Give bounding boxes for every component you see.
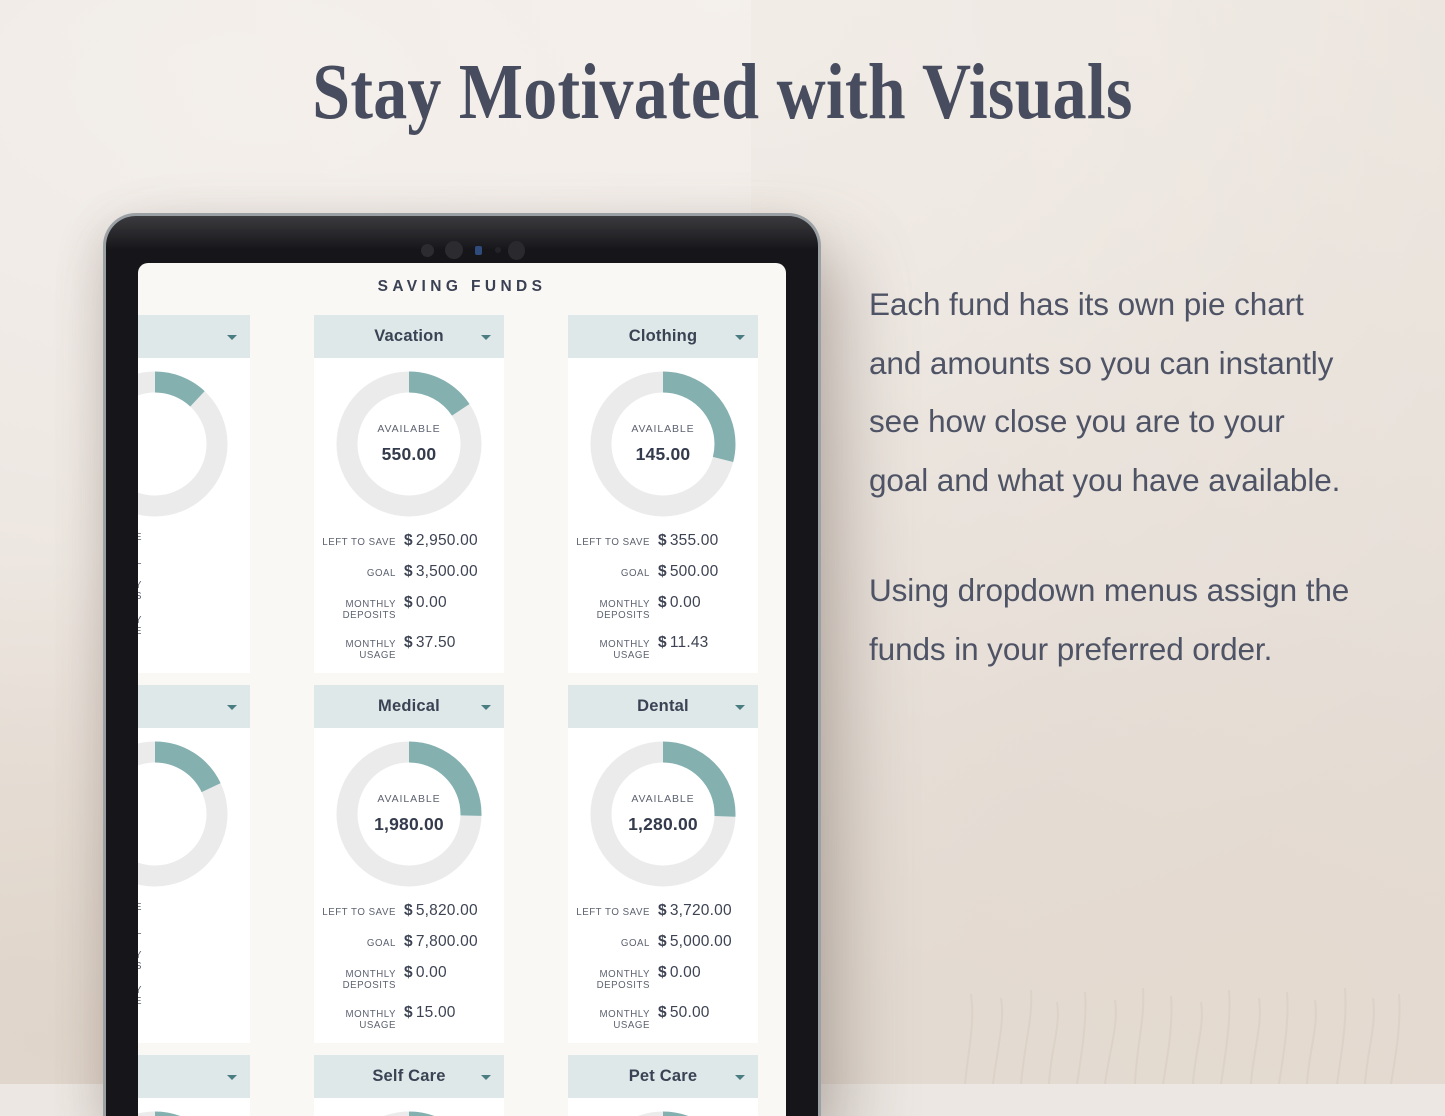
- fund-card-body: LEFT TO SAVEGOALMONTHLY DEPOSITSMONTHLY …: [138, 1098, 250, 1116]
- donut-chart-wrap: AVAILABLE145.00: [568, 370, 758, 518]
- fund-card[interactable]: LEFT TO SAVEGOALMONTHLY DEPOSITSMONTHLY …: [138, 685, 250, 1043]
- currency-symbol: $: [404, 532, 413, 549]
- chevron-down-icon[interactable]: [227, 1075, 237, 1080]
- donut-center: [335, 1110, 483, 1116]
- marketing-copy: Each fund has its own pie chart and amou…: [869, 275, 1351, 678]
- tablet-screen: SAVING FUNDS LEFT TO SAVEGOALMONTHLY DEP…: [138, 263, 786, 1116]
- donut-chart-wrap: [314, 1110, 504, 1116]
- monthly-usage-value: $50.00: [658, 1004, 744, 1022]
- left-to-save-label: LEFT TO SAVE: [576, 907, 650, 918]
- chevron-down-icon[interactable]: [735, 1075, 745, 1080]
- monthly-usage-label: MONTHLY USAGE: [568, 1009, 650, 1031]
- goal-label: GOAL: [621, 938, 650, 949]
- camera-lens-secondary-icon: [508, 241, 525, 260]
- fund-row-goal: GOAL$7,800.00: [314, 933, 490, 951]
- fund-row-left-to-save: LEFT TO SAVE: [138, 902, 236, 913]
- fund-card[interactable]: DentalAVAILABLE1,280.00LEFT TO SAVE$3,72…: [568, 685, 758, 1043]
- monthly-usage-label: MONTHLY USAGE: [314, 639, 396, 661]
- fund-row-left-to-save: LEFT TO SAVE$2,950.00: [314, 532, 490, 550]
- monthly-deposits-label: MONTHLY DEPOSITS: [568, 969, 650, 991]
- donut-chart: [138, 370, 229, 518]
- donut-chart-wrap: [138, 370, 250, 518]
- goal-label: GOAL: [138, 926, 142, 937]
- goal-label: GOAL: [621, 568, 650, 579]
- fund-card-header[interactable]: Dental: [568, 685, 758, 728]
- fund-name-label: Self Care: [372, 1067, 445, 1086]
- donut-center: [589, 1110, 737, 1116]
- currency-symbol: $: [404, 634, 413, 651]
- monthly-deposits-label: MONTHLY DEPOSITS: [314, 969, 396, 991]
- donut-chart-wrap: [138, 1110, 250, 1116]
- fund-row-monthly-deposits: MONTHLY DEPOSITS$0.00: [314, 964, 490, 991]
- chevron-down-icon[interactable]: [481, 705, 491, 710]
- fund-card-body: LEFT TO SAVEGOALMONTHLY DEPOSITSMONTHLY …: [314, 1098, 504, 1116]
- monthly-deposits-value: $0.00: [404, 594, 490, 612]
- goal-value: $500.00: [658, 563, 744, 581]
- fund-row-monthly-usage: MONTHLY USAGE$37.50: [314, 634, 490, 661]
- left-to-save-label: LEFT TO SAVE: [138, 902, 142, 913]
- chevron-down-icon[interactable]: [227, 705, 237, 710]
- fund-amount-rows: LEFT TO SAVE$5,820.00GOAL$7,800.00MONTHL…: [314, 888, 504, 1031]
- donut-chart: [335, 1110, 483, 1116]
- donut-center: AVAILABLE145.00: [589, 370, 737, 518]
- chevron-down-icon[interactable]: [481, 335, 491, 340]
- fund-name-label: Clothing: [629, 327, 698, 346]
- monthly-usage-label: MONTHLY USAGE: [138, 615, 142, 637]
- available-value: 1,280.00: [628, 814, 698, 835]
- monthly-usage-label: MONTHLY USAGE: [568, 639, 650, 661]
- funds-grid-viewport[interactable]: LEFT TO SAVEGOALMONTHLY DEPOSITSMONTHLY …: [138, 315, 786, 1116]
- fund-card-header[interactable]: Pet Care: [568, 1055, 758, 1098]
- donut-center: AVAILABLE550.00: [335, 370, 483, 518]
- fund-card-header[interactable]: [138, 1055, 250, 1098]
- available-label: AVAILABLE: [631, 793, 694, 805]
- donut-chart-wrap: AVAILABLE1,280.00: [568, 740, 758, 888]
- fund-card-body: AVAILABLE550.00LEFT TO SAVE$2,950.00GOAL…: [314, 358, 504, 673]
- goal-label: GOAL: [367, 568, 396, 579]
- fund-row-monthly-usage: MONTHLY USAGE: [138, 615, 236, 637]
- available-value: 145.00: [636, 444, 691, 465]
- left-to-save-value: $5,820.00: [404, 902, 490, 920]
- currency-symbol: $: [658, 902, 667, 919]
- left-to-save-value: $3,720.00: [658, 902, 744, 920]
- fund-card-header[interactable]: Medical: [314, 685, 504, 728]
- monthly-usage-value: $15.00: [404, 1004, 490, 1022]
- goal-label: GOAL: [367, 938, 396, 949]
- monthly-usage-label: MONTHLY USAGE: [138, 985, 142, 1007]
- currency-symbol: $: [658, 532, 667, 549]
- fund-row-goal: GOAL$5,000.00: [568, 933, 744, 951]
- available-label: AVAILABLE: [631, 423, 694, 435]
- monthly-deposits-value: $0.00: [658, 964, 744, 982]
- fund-amount-rows: LEFT TO SAVE$355.00GOAL$500.00MONTHLY DE…: [568, 518, 758, 661]
- monthly-usage-value: $11.43: [658, 634, 744, 652]
- monthly-deposits-label: MONTHLY DEPOSITS: [314, 599, 396, 621]
- donut-center: AVAILABLE1,980.00: [335, 740, 483, 888]
- left-to-save-value: $355.00: [658, 532, 744, 550]
- currency-symbol: $: [658, 1004, 667, 1021]
- fund-card[interactable]: ClothingAVAILABLE145.00LEFT TO SAVE$355.…: [568, 315, 758, 673]
- currency-symbol: $: [658, 634, 667, 651]
- donut-chart-wrap: AVAILABLE550.00: [314, 370, 504, 518]
- donut-chart: [138, 740, 229, 888]
- fund-card-header[interactable]: Clothing: [568, 315, 758, 358]
- currency-symbol: $: [404, 933, 413, 950]
- goal-value: $7,800.00: [404, 933, 490, 951]
- donut-center: [138, 1110, 229, 1116]
- fund-row-monthly-usage: MONTHLY USAGE$11.43: [568, 634, 744, 661]
- currency-symbol: $: [658, 594, 667, 611]
- fund-card-body: LEFT TO SAVEGOALMONTHLY DEPOSITSMONTHLY …: [568, 1098, 758, 1116]
- chevron-down-icon[interactable]: [735, 335, 745, 340]
- fund-row-goal: GOAL$500.00: [568, 563, 744, 581]
- fund-amount-rows: LEFT TO SAVE$2,950.00GOAL$3,500.00MONTHL…: [314, 518, 504, 661]
- fund-row-goal: GOAL$3,500.00: [314, 563, 490, 581]
- currency-symbol: $: [404, 964, 413, 981]
- fund-row-monthly-deposits: MONTHLY DEPOSITS$0.00: [568, 964, 744, 991]
- fund-row-left-to-save: LEFT TO SAVE: [138, 532, 236, 543]
- app-title: SAVING FUNDS: [138, 263, 786, 310]
- donut-chart: [589, 1110, 737, 1116]
- donut-chart-wrap: [138, 740, 250, 888]
- copy-paragraph-1: Each fund has its own pie chart and amou…: [869, 275, 1351, 509]
- available-value: 550.00: [382, 444, 437, 465]
- goal-value: $5,000.00: [658, 933, 744, 951]
- camera-lens-icon: [445, 241, 463, 259]
- goal-value: $3,500.00: [404, 563, 490, 581]
- fund-amount-rows: LEFT TO SAVEGOALMONTHLY DEPOSITSMONTHLY …: [138, 518, 250, 637]
- fund-row-left-to-save: LEFT TO SAVE$5,820.00: [314, 902, 490, 920]
- monthly-deposits-label: MONTHLY DEPOSITS: [138, 950, 142, 972]
- available-label: AVAILABLE: [377, 423, 440, 435]
- fund-amount-rows: LEFT TO SAVEGOALMONTHLY DEPOSITSMONTHLY …: [138, 888, 250, 1007]
- donut-chart-wrap: AVAILABLE1,980.00: [314, 740, 504, 888]
- left-to-save-label: LEFT TO SAVE: [138, 532, 142, 543]
- fund-name-label: Pet Care: [629, 1067, 698, 1086]
- fund-row-goal: GOAL: [138, 556, 236, 567]
- donut-chart: AVAILABLE550.00: [335, 370, 483, 518]
- camera-dot-icon: [421, 244, 434, 257]
- fund-card-header[interactable]: Vacation: [314, 315, 504, 358]
- camera-sensor-icon: [475, 246, 482, 255]
- donut-chart: AVAILABLE145.00: [589, 370, 737, 518]
- currency-symbol: $: [404, 563, 413, 580]
- monthly-deposits-label: MONTHLY DEPOSITS: [138, 580, 142, 602]
- funds-grid: LEFT TO SAVEGOALMONTHLY DEPOSITSMONTHLY …: [138, 315, 786, 1116]
- fund-row-monthly-usage: MONTHLY USAGE$15.00: [314, 1004, 490, 1031]
- fund-row-monthly-usage: MONTHLY USAGE: [138, 985, 236, 1007]
- donut-chart: AVAILABLE1,280.00: [589, 740, 737, 888]
- left-to-save-label: LEFT TO SAVE: [322, 907, 396, 918]
- tablet-device-frame: SAVING FUNDS LEFT TO SAVEGOALMONTHLY DEP…: [106, 216, 818, 1116]
- fund-card[interactable]: Self CareLEFT TO SAVEGOALMONTHLY DEPOSIT…: [314, 1055, 504, 1116]
- fund-card[interactable]: VacationAVAILABLE550.00LEFT TO SAVE$2,95…: [314, 315, 504, 673]
- left-to-save-label: LEFT TO SAVE: [576, 537, 650, 548]
- fund-card-body: AVAILABLE1,980.00LEFT TO SAVE$5,820.00GO…: [314, 728, 504, 1043]
- fund-card-body: LEFT TO SAVEGOALMONTHLY DEPOSITSMONTHLY …: [138, 728, 250, 1019]
- fund-card-body: LEFT TO SAVEGOALMONTHLY DEPOSITSMONTHLY …: [138, 358, 250, 649]
- fund-row-monthly-deposits: MONTHLY DEPOSITS: [138, 950, 236, 972]
- fund-card[interactable]: MedicalAVAILABLE1,980.00LEFT TO SAVE$5,8…: [314, 685, 504, 1043]
- donut-center: [138, 370, 229, 518]
- fund-card[interactable]: LEFT TO SAVEGOALMONTHLY DEPOSITSMONTHLY …: [138, 315, 250, 673]
- fund-row-monthly-deposits: MONTHLY DEPOSITS$0.00: [314, 594, 490, 621]
- fund-card[interactable]: LEFT TO SAVEGOALMONTHLY DEPOSITSMONTHLY …: [138, 1055, 250, 1116]
- fund-name-label: Vacation: [374, 327, 443, 346]
- goal-label: GOAL: [138, 556, 142, 567]
- page-title: Stay Motivated with Visuals: [101, 52, 1344, 135]
- fund-name-label: Dental: [637, 697, 689, 716]
- monthly-usage-label: MONTHLY USAGE: [314, 1009, 396, 1031]
- fund-row-monthly-usage: MONTHLY USAGE$50.00: [568, 1004, 744, 1031]
- left-to-save-value: $2,950.00: [404, 532, 490, 550]
- fund-card-body: AVAILABLE1,280.00LEFT TO SAVE$3,720.00GO…: [568, 728, 758, 1043]
- currency-symbol: $: [658, 563, 667, 580]
- fund-card-header[interactable]: [138, 685, 250, 728]
- chevron-down-icon[interactable]: [227, 335, 237, 340]
- donut-center: AVAILABLE1,280.00: [589, 740, 737, 888]
- monthly-deposits-value: $0.00: [404, 964, 490, 982]
- left-to-save-label: LEFT TO SAVE: [322, 537, 396, 548]
- fund-row-goal: GOAL: [138, 926, 236, 937]
- chevron-down-icon[interactable]: [481, 1075, 491, 1080]
- fund-name-label: Medical: [378, 697, 440, 716]
- donut-chart-wrap: [568, 1110, 758, 1116]
- fund-card-header[interactable]: [138, 315, 250, 358]
- fund-card-body: AVAILABLE145.00LEFT TO SAVE$355.00GOAL$5…: [568, 358, 758, 673]
- currency-symbol: $: [404, 1004, 413, 1021]
- monthly-deposits-value: $0.00: [658, 594, 744, 612]
- camera-mic-icon: [495, 247, 501, 253]
- fund-row-monthly-deposits: MONTHLY DEPOSITS$0.00: [568, 594, 744, 621]
- currency-symbol: $: [658, 964, 667, 981]
- grass-silhouette: [945, 964, 1405, 1084]
- currency-symbol: $: [404, 902, 413, 919]
- chevron-down-icon[interactable]: [735, 705, 745, 710]
- fund-row-left-to-save: LEFT TO SAVE$3,720.00: [568, 902, 744, 920]
- fund-amount-rows: LEFT TO SAVE$3,720.00GOAL$5,000.00MONTHL…: [568, 888, 758, 1031]
- fund-card-header[interactable]: Self Care: [314, 1055, 504, 1098]
- available-value: 1,980.00: [374, 814, 444, 835]
- monthly-deposits-label: MONTHLY DEPOSITS: [568, 599, 650, 621]
- monthly-usage-value: $37.50: [404, 634, 490, 652]
- currency-symbol: $: [658, 933, 667, 950]
- donut-chart: AVAILABLE1,980.00: [335, 740, 483, 888]
- currency-symbol: $: [404, 594, 413, 611]
- copy-paragraph-2: Using dropdown menus assign the funds in…: [869, 561, 1351, 678]
- donut-center: [138, 740, 229, 888]
- fund-row-left-to-save: LEFT TO SAVE$355.00: [568, 532, 744, 550]
- available-label: AVAILABLE: [377, 793, 440, 805]
- donut-chart: [138, 1110, 229, 1116]
- fund-card[interactable]: Pet CareLEFT TO SAVEGOALMONTHLY DEPOSITS…: [568, 1055, 758, 1116]
- fund-row-monthly-deposits: MONTHLY DEPOSITS: [138, 580, 236, 602]
